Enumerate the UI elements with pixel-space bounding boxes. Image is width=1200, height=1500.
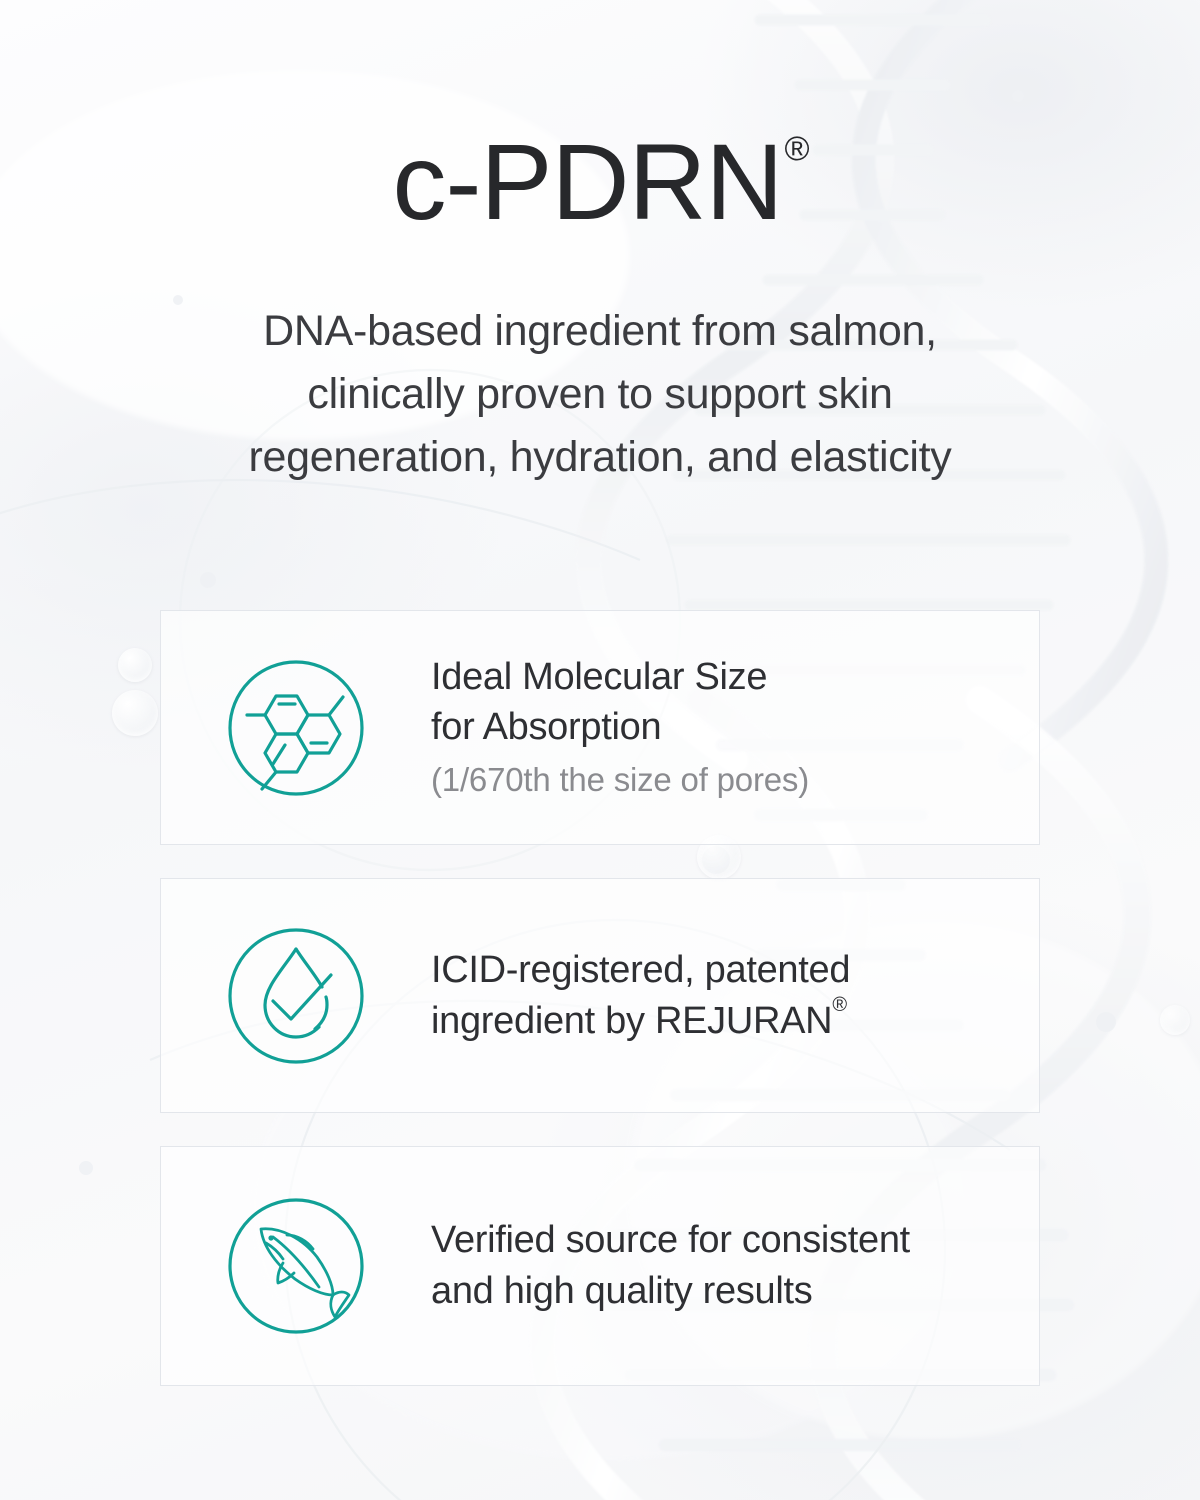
card-text: ICID-registered, patented ingredient by … — [431, 945, 1039, 1046]
feature-card-molecular-size: Ideal Molecular Size for Absorption (1/6… — [160, 610, 1040, 845]
cpdrn-ingredient-infographic: c-PDRN® DNA-based ingredient from salmon… — [0, 0, 1200, 1500]
icon-container — [161, 921, 431, 1071]
card-line-1: Ideal Molecular Size — [431, 652, 1015, 703]
subtitle-line-2: clinically proven to support skin — [0, 363, 1200, 426]
header: c-PDRN® DNA-based ingredient from salmon… — [0, 0, 1200, 490]
bubble-decoration — [1160, 1005, 1190, 1035]
water-drop-check-icon — [221, 921, 371, 1071]
bubble-decoration — [118, 648, 152, 682]
registered-mark-icon: ® — [832, 994, 846, 1016]
page-title: c-PDRN® — [392, 128, 807, 236]
fish-icon — [221, 1191, 371, 1341]
icon-container — [161, 1191, 431, 1341]
bubble-decoration — [112, 690, 158, 736]
molecule-icon — [221, 653, 371, 803]
card-text: Ideal Molecular Size for Absorption (1/6… — [431, 652, 1039, 804]
card-subtext: (1/670th the size of pores) — [431, 757, 1015, 804]
feature-card-icid-registered: ICID-registered, patented ingredient by … — [160, 878, 1040, 1113]
card-line-1: Verified source for consistent — [431, 1215, 1015, 1266]
card-line-2: for Absorption — [431, 702, 1015, 753]
icon-container — [161, 653, 431, 803]
subtitle-line-3: regeneration, hydration, and elasticity — [0, 426, 1200, 489]
feature-card-verified-source: Verified source for consistent and high … — [160, 1146, 1040, 1386]
feature-card-list: Ideal Molecular Size for Absorption (1/6… — [160, 610, 1040, 1419]
card-line-2: and high quality results — [431, 1266, 1015, 1317]
card-line-2-text: ingredient by REJURAN — [431, 1000, 832, 1042]
card-line-2: ingredient by REJURAN® — [431, 996, 1015, 1047]
brand-name: c-PDRN — [392, 121, 782, 242]
card-text: Verified source for consistent and high … — [431, 1215, 1039, 1316]
registered-mark-icon: ® — [784, 130, 809, 168]
card-line-1: ICID-registered, patented — [431, 945, 1015, 996]
subtitle: DNA-based ingredient from salmon, clinic… — [0, 300, 1200, 490]
subtitle-line-1: DNA-based ingredient from salmon, — [0, 300, 1200, 363]
